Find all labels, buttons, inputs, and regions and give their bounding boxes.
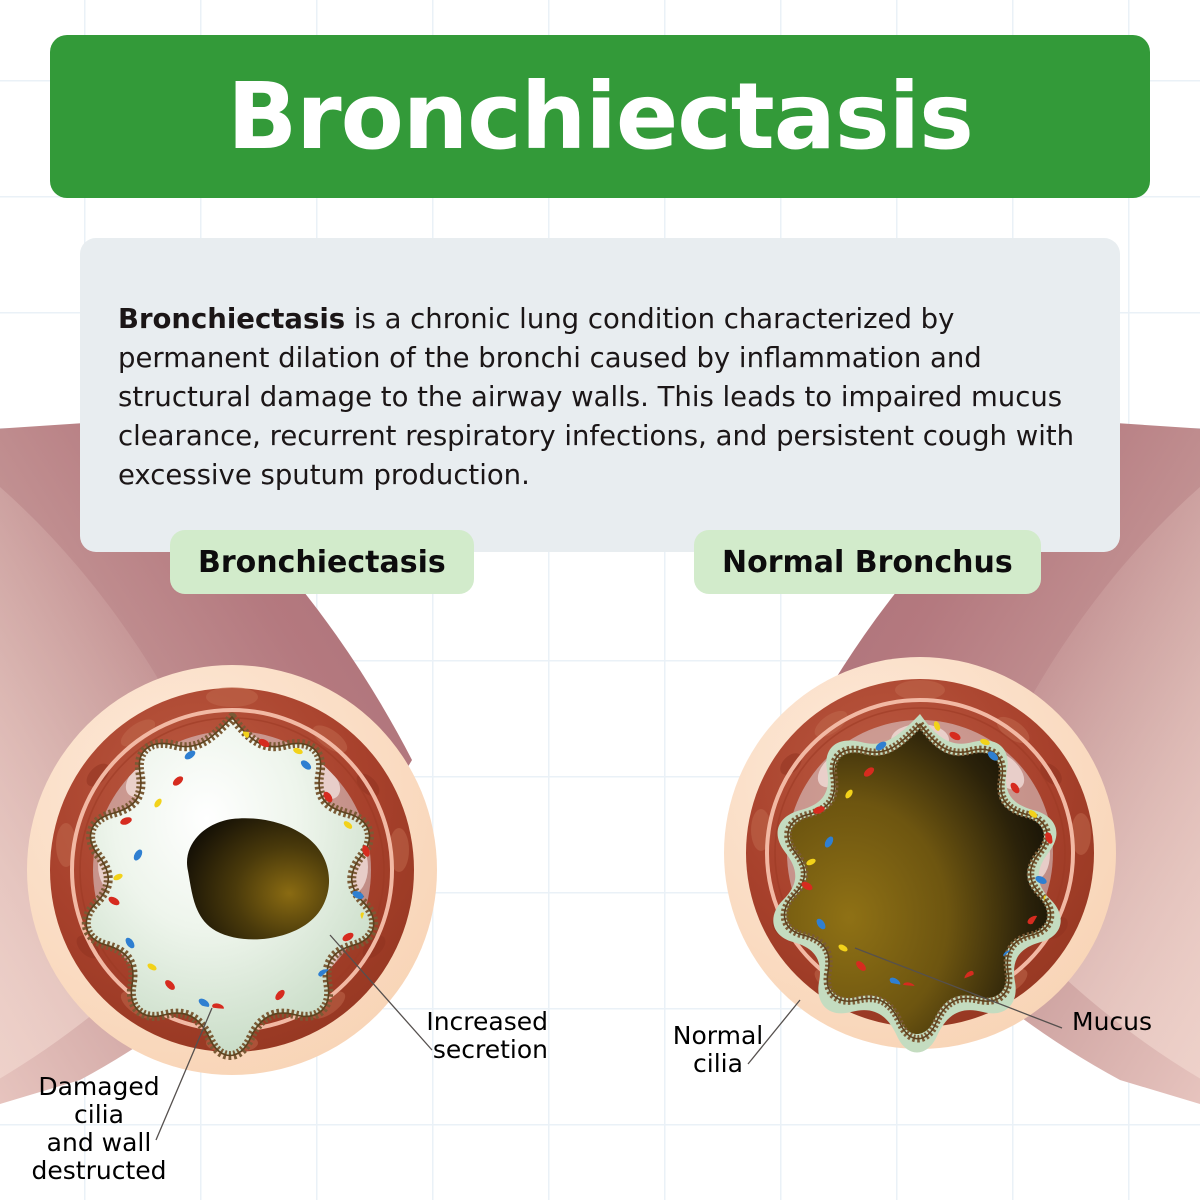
normal-bronchus-cross-section [715,648,1135,1068]
figure-label-normal-bronchus: Normal Bronchus [694,530,1041,594]
annotation-normal-cilia: Normal cilia [668,1022,768,1078]
description-lead-word: Bronchiectasis [118,303,345,335]
annotation-damaged-cilia: Damaged cilia and wall destructed [24,1073,174,1185]
figure-label-bronchiectasis: Bronchiectasis [170,530,474,594]
annotation-increased-secretion: Increased secretion [418,1008,548,1064]
title-banner: Bronchiectasis [50,35,1150,198]
annotation-mucus: Mucus [1072,1008,1192,1036]
poster-canvas: Bronchiectasis Bronchiectasis is a chron… [0,0,1200,1200]
description-card: Bronchiectasis is a chronic lung conditi… [80,238,1120,552]
figure-label-bronchiectasis-text: Bronchiectasis [198,545,446,580]
bronchiectasis-cross-section [18,655,458,1095]
description-paragraph: Bronchiectasis is a chronic lung conditi… [118,300,1084,495]
page-title: Bronchiectasis [227,71,973,163]
figure-label-normal-bronchus-text: Normal Bronchus [722,545,1013,580]
